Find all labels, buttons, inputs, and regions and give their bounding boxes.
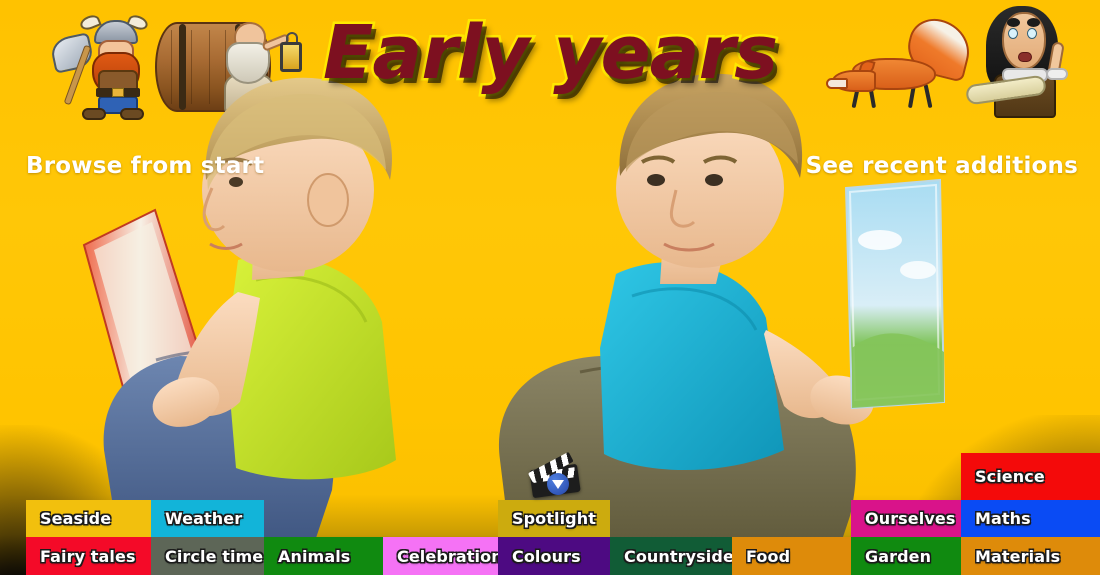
topic-tile-garden[interactable]: Garden [851,537,961,575]
page-title: Early years [0,10,1100,96]
topic-tile-weather[interactable]: Weather [151,500,264,537]
spotlight-video-badge[interactable] [527,451,583,499]
topic-tile-maths[interactable]: Maths [961,500,1100,537]
topic-tile-materials[interactable]: Materials [961,537,1100,575]
topic-tile-spotlight[interactable]: Spotlight [498,500,610,537]
play-triangle-icon [552,480,564,489]
see-recent-additions-link[interactable]: See recent additions [806,153,1078,179]
topic-tile-countryside[interactable]: Countryside [610,537,732,575]
early-years-page: Early years Browse from start See recent… [0,0,1100,575]
browse-from-start-link[interactable]: Browse from start [26,153,264,179]
viking-boot-left [82,108,106,120]
topic-tile-celebrations[interactable]: Celebrations [383,537,498,575]
topic-tile-seaside[interactable]: Seaside [26,500,151,537]
topic-tile-food[interactable]: Food [732,537,851,575]
topic-tile-animals[interactable]: Animals [264,537,383,575]
topic-tile-fairy-tales[interactable]: Fairy tales [26,537,151,575]
viking-boot-right [120,108,144,120]
topic-tile-science[interactable]: Science [961,453,1100,500]
play-button-icon[interactable] [547,473,569,495]
topic-tile-ourselves[interactable]: Ourselves [851,500,961,537]
topic-tile-circle-time[interactable]: Circle time [151,537,264,575]
topic-tile-colours[interactable]: Colours [498,537,610,575]
